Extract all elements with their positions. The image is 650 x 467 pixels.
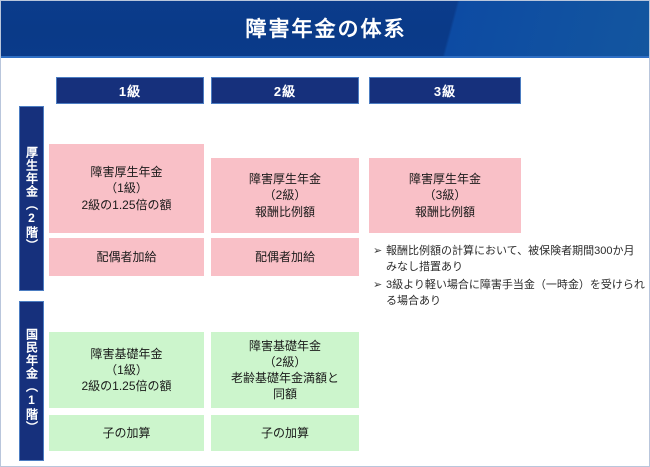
column-header-grade-3: 3級 (369, 77, 521, 104)
notes-list: ➢ 報酬比例額の計算において、被保険者期間300か月みなし措置あり ➢ 3級より… (373, 244, 645, 312)
note-item: ➢ 報酬比例額の計算において、被保険者期間300か月みなし措置あり (373, 244, 645, 276)
note-text: 報酬比例額の計算において、被保険者期間300か月みなし措置あり (386, 244, 645, 276)
benefit-box-child-supplement-grade-2: 子の加算 (211, 415, 359, 451)
benefit-box-spouse-supplement-grade-1: 配偶者加給 (49, 238, 204, 276)
benefit-box-employees-grade-1: 障害厚生年金 （1級） 2級の1.25倍の額 (49, 144, 204, 233)
note-item: ➢ 3級より軽い場合に障害手当金（一時金）を受けられる場合あり (373, 278, 645, 310)
arrow-bullet-icon: ➢ (373, 244, 386, 260)
page-title: 障害年金の体系 (1, 1, 650, 58)
benefit-box-employees-grade-3: 障害厚生年金 （3級） 報酬比例額 (369, 158, 521, 233)
note-text: 3級より軽い場合に障害手当金（一時金）を受けられる場合あり (386, 278, 645, 310)
slide-canvas: 障害年金の体系 1級 2級 3級 厚生年金（2階） 国民年金（1階） 障害厚生年… (0, 0, 650, 467)
tier-label-employees-pension: 厚生年金（2階） (19, 106, 44, 291)
benefit-box-employees-grade-2: 障害厚生年金 （2級） 報酬比例額 (211, 158, 359, 233)
column-header-grade-1: 1級 (56, 77, 204, 104)
benefit-box-basic-grade-1: 障害基礎年金 （1級） 2級の1.25倍の額 (49, 332, 204, 408)
benefit-box-child-supplement-grade-1: 子の加算 (49, 415, 204, 451)
column-header-grade-2: 2級 (211, 77, 359, 104)
tier-label-national-pension: 国民年金（1階） (19, 301, 44, 461)
benefit-box-basic-grade-2: 障害基礎年金 （2級） 老齢基礎年金満額と 同額 (211, 332, 359, 408)
benefit-box-spouse-supplement-grade-2: 配偶者加給 (211, 238, 359, 276)
arrow-bullet-icon: ➢ (373, 278, 386, 294)
